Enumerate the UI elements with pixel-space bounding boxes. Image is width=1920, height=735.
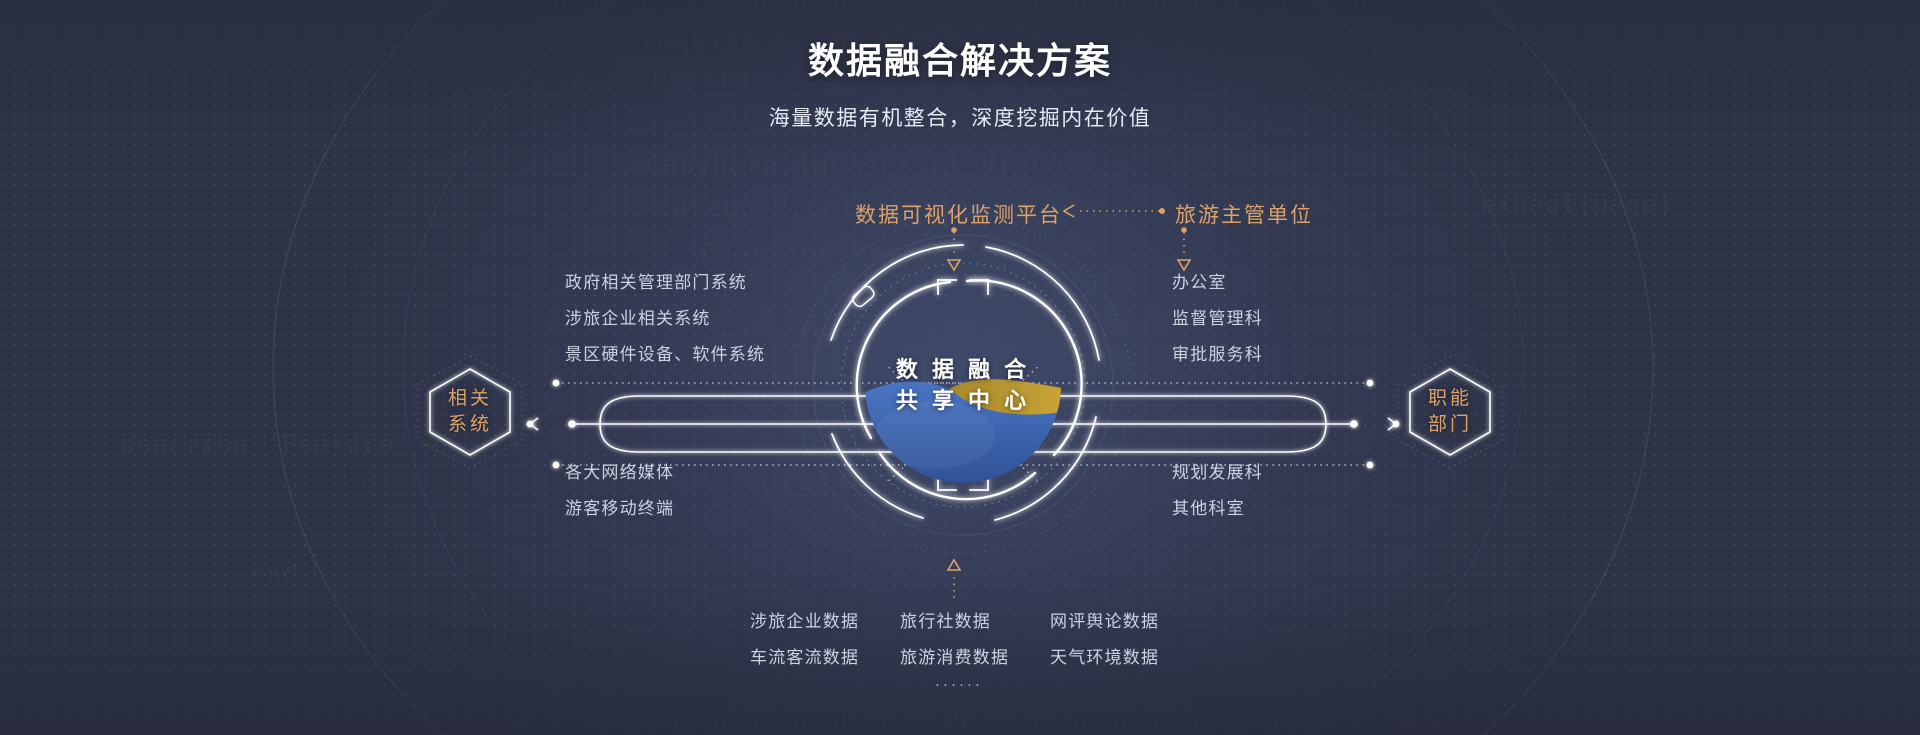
hexagon-related-systems[interactable]: 相关 系统 [410,352,530,472]
bottom-data-item[interactable]: 旅游消费数据 [900,640,1009,676]
right-department-item[interactable]: 监督管理科 [1172,301,1263,337]
right-department-item[interactable]: 规划发展科 [1172,455,1263,491]
left-source-item[interactable]: 各大网络媒体 [565,455,674,491]
hexagon-right-line2: 部门 [1428,412,1472,438]
right-departments-upper: 办公室 监督管理科 审批服务科 [1172,265,1263,373]
bottom-data-item[interactable]: 旅行社数据 [900,604,1009,640]
right-department-item[interactable]: 其他科室 [1172,491,1263,527]
bg-code-line: Capybara.javascript_driver [645,150,1081,181]
bottom-data-col2: 旅行社数据 旅游消费数据 [900,604,1009,676]
right-department-item[interactable]: 办公室 [1172,265,1263,301]
hexagon-functional-departments[interactable]: 职能 部门 [1390,352,1510,472]
left-source-item[interactable]: 涉旅企业相关系统 [565,301,765,337]
hexagon-right-label: 职能 部门 [1390,352,1510,472]
bottom-data-item[interactable]: 网评舆论数据 [1050,604,1159,640]
bg-code-line: expect(page) [1480,190,1674,220]
bottom-data-col3: 网评舆论数据 天气环境数据 [1050,604,1159,676]
hexagon-right-line1: 职能 [1428,386,1472,412]
bottom-data-col1: 涉旅企业数据 车流客流数据 [750,604,859,676]
left-sources-upper: 政府相关管理部门系统 涉旅企业相关系统 景区硬件设备、软件系统 [565,265,765,373]
hexagon-left-line1: 相关 [448,386,492,412]
node-tourism-authority[interactable]: 旅游主管单位 [1175,199,1313,229]
left-source-item[interactable]: 政府相关管理部门系统 [565,265,765,301]
node-data-visualization-platform[interactable]: 数据可视化监测平台 [855,199,1062,229]
page-subtitle: 海量数据有机整合，深度挖掘内在价值 [0,102,1920,132]
bottom-data-item[interactable]: 天气环境数据 [1050,640,1159,676]
header-block: 数据融合解决方案 海量数据有机整合，深度挖掘内在价值 [0,32,1920,132]
left-sources-lower: 各大网络媒体 游客移动终端 [565,455,674,527]
bottom-data-ellipsis: ······ [935,676,983,693]
core-data-fusion-sphere[interactable]: 数 据 融 合 共 享 中 心 [863,285,1063,485]
bg-code-line: describe 'Feature' [120,430,411,460]
right-department-item[interactable]: 审批服务科 [1172,337,1263,373]
left-source-item[interactable]: 景区硬件设备、软件系统 [565,337,765,373]
page-title: 数据融合解决方案 [0,32,1920,84]
hexagon-left-label: 相关 系统 [410,352,530,472]
bottom-data-item[interactable]: 车流客流数据 [750,640,859,676]
bg-code-line: end [250,560,298,590]
right-departments-lower: 规划发展科 其他科室 [1172,455,1263,527]
left-source-item[interactable]: 游客移动终端 [565,491,674,527]
hexagon-left-line2: 系统 [448,412,492,438]
bottom-data-item[interactable]: 涉旅企业数据 [750,604,859,640]
